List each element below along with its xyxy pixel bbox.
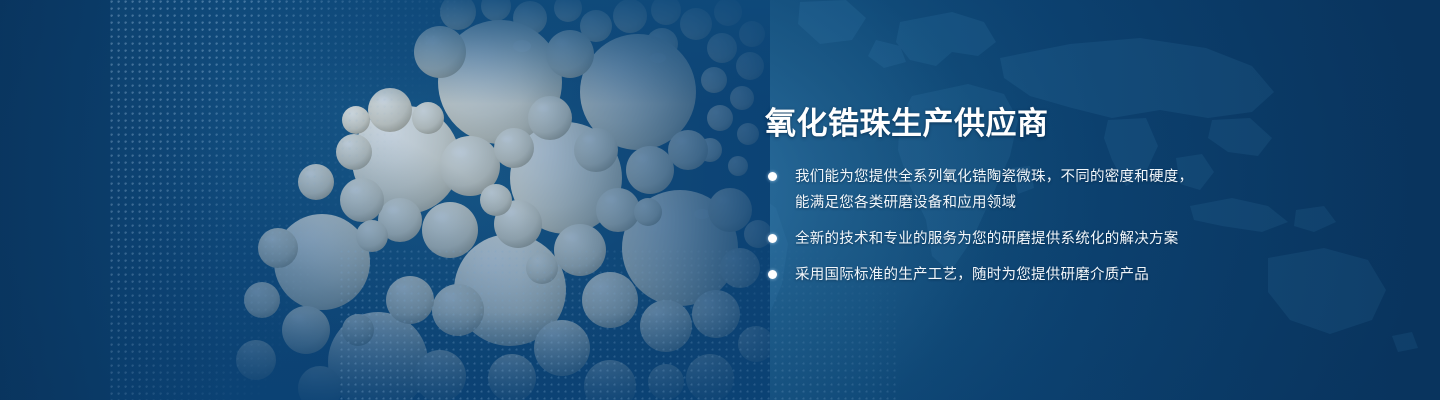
list-item-line: 能满足您各类研磨设备和应用领域 <box>795 190 1385 216</box>
hero-banner: 氧化锆珠生产供应商 我们能为您提供全系列氧化锆陶瓷微珠，不同的密度和硬度， 能满… <box>0 0 1440 400</box>
bullet-dot-icon <box>768 270 777 279</box>
banner-feature-list: 我们能为您提供全系列氧化锆陶瓷微珠，不同的密度和硬度， 能满足您各类研磨设备和应… <box>765 164 1385 288</box>
list-item-line: 我们能为您提供全系列氧化锆陶瓷微珠，不同的密度和硬度， <box>795 164 1385 190</box>
banner-copy: 氧化锆珠生产供应商 我们能为您提供全系列氧化锆陶瓷微珠，不同的密度和硬度， 能满… <box>765 104 1385 288</box>
bullet-dot-icon <box>768 172 777 181</box>
banner-headline: 氧化锆珠生产供应商 <box>765 104 1385 144</box>
list-item: 采用国际标准的生产工艺，随时为您提供研磨介质产品 <box>765 262 1385 288</box>
bullet-dot-icon <box>768 234 777 243</box>
zirconia-beads-photo <box>110 0 770 400</box>
list-item-line: 全新的技术和专业的服务为您的研磨提供系统化的解决方案 <box>795 226 1385 252</box>
list-item: 全新的技术和专业的服务为您的研磨提供系统化的解决方案 <box>765 226 1385 252</box>
list-item-line: 采用国际标准的生产工艺，随时为您提供研磨介质产品 <box>795 262 1385 288</box>
list-item: 我们能为您提供全系列氧化锆陶瓷微珠，不同的密度和硬度， 能满足您各类研磨设备和应… <box>765 164 1385 216</box>
